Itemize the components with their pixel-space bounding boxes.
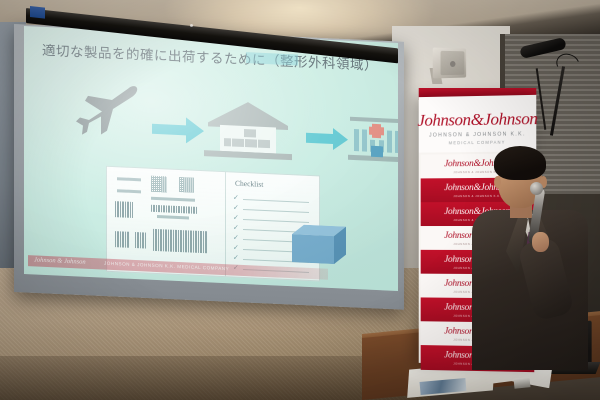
checklist-line	[243, 199, 309, 203]
checklist-line	[243, 209, 309, 213]
presenter	[470, 140, 595, 368]
small-object	[514, 377, 531, 389]
status-led-icon	[30, 6, 45, 19]
data-matrix-code	[151, 176, 167, 193]
check-icon: ✓	[233, 234, 239, 241]
hair	[494, 146, 546, 180]
checklist-item: ✓	[233, 194, 309, 204]
cardboard-box-icon	[292, 224, 346, 264]
barcode	[115, 231, 129, 248]
hand	[532, 232, 549, 252]
check-icon: ✓	[233, 214, 239, 221]
speaker-cone	[450, 61, 456, 67]
barcode	[135, 232, 147, 249]
wall-speaker-icon	[433, 47, 466, 78]
barcode	[151, 205, 197, 214]
airplane-icon	[64, 80, 140, 145]
jj-wordmark: Johnson&Johnson	[417, 109, 537, 131]
check-icon: ✓	[233, 204, 239, 211]
warehouse-icon	[202, 96, 294, 162]
arrow-right-icon	[152, 116, 204, 144]
hospital-icon	[344, 103, 398, 168]
rail-marker	[190, 24, 193, 27]
panel-divider	[225, 172, 226, 276]
arrow-right-icon	[306, 127, 348, 151]
barcode	[115, 201, 133, 218]
checklist-line	[243, 219, 309, 223]
check-icon: ✓	[233, 254, 239, 261]
projection-screen: 適切な製品を的確に出荷するために（整形外科領域）	[24, 26, 398, 291]
microphone-head	[530, 182, 543, 195]
presentation-photo: 適切な製品を的確に出荷するために（整形外科領域）	[0, 0, 600, 400]
data-matrix-code	[179, 177, 194, 193]
title-highlight	[246, 52, 298, 65]
jj-logo-text: Johnson & Johnson	[34, 256, 86, 265]
check-icon: ✓	[233, 244, 239, 251]
checklist-item: ✓	[233, 204, 309, 214]
check-icon: ✓	[233, 194, 239, 201]
checklist-item: ✓	[233, 214, 309, 224]
banner-subtitle-1: JOHNSON & JOHNSON K.K.	[429, 131, 526, 138]
check-icon: ✓	[233, 224, 239, 231]
barcode	[153, 229, 207, 253]
ear-left	[494, 176, 501, 188]
checklist-label: Checklist	[235, 179, 263, 189]
